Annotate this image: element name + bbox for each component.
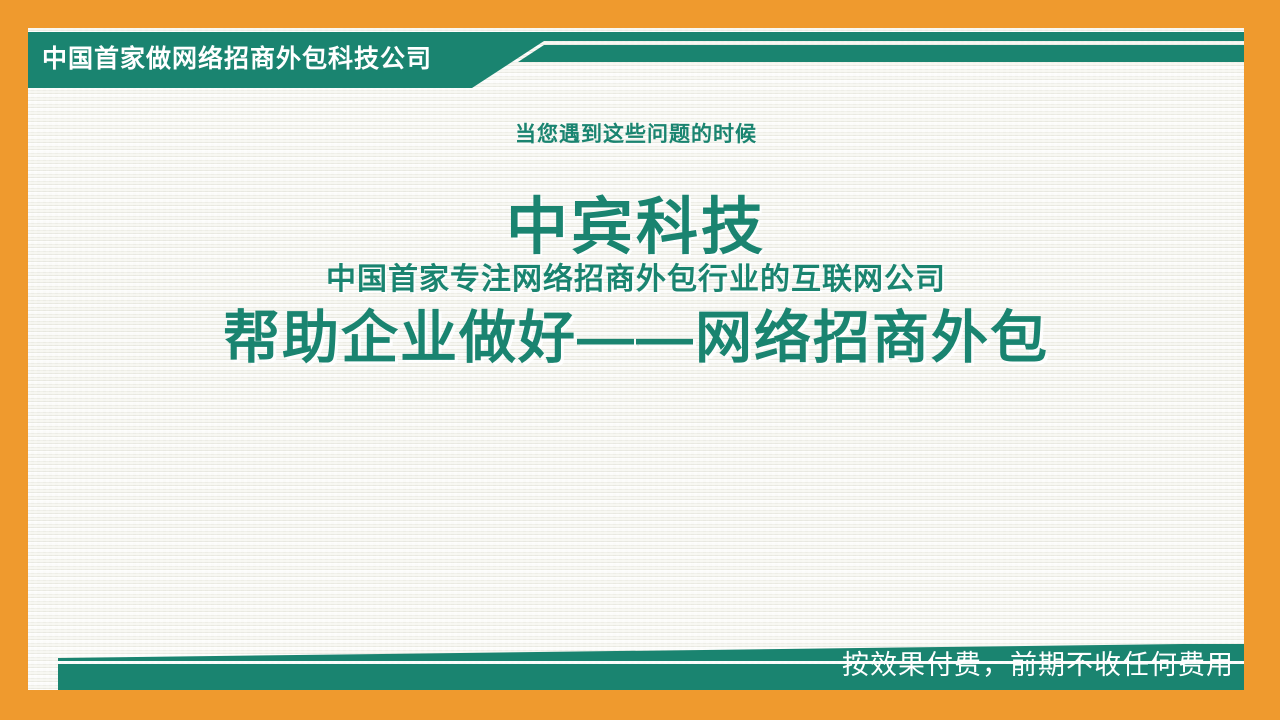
frame-border-top [0,0,1280,28]
brand-name: 中宾科技 [28,190,1244,266]
slide-root: 当您遇到这些问题的时候 中宾科技 中国首家专注网络招商外包行业的互联网公司 帮助… [0,0,1280,720]
bottom-banner-label: 按效果付费，前期不收任何费用 [842,646,1234,684]
headline-text: 帮助企业做好——网络招商外包 [28,302,1244,374]
top-banner-label: 中国首家做网络招商外包科技公司 [42,41,432,77]
frame-border-left [0,0,28,720]
frame-border-right [1244,0,1280,720]
content-block: 当您遇到这些问题的时候 中宾科技 中国首家专注网络招商外包行业的互联网公司 帮助… [28,120,1244,374]
top-banner-strip-polygon [518,45,1244,62]
eyebrow-text: 当您遇到这些问题的时候 [28,120,1244,150]
tagline-text: 中国首家专注网络招商外包行业的互联网公司 [28,260,1244,300]
frame-border-bottom [0,690,1280,720]
